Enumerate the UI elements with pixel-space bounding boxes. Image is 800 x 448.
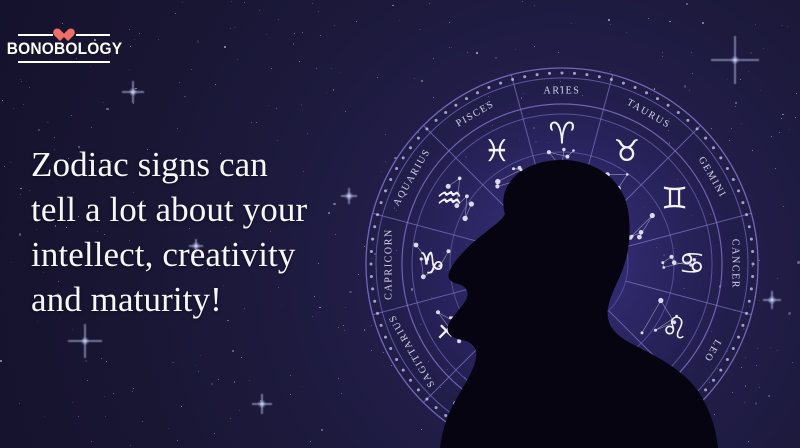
page-title-line: and maturity!: [31, 277, 361, 322]
logo-rule-right: [76, 34, 111, 36]
brand-logo[interactable]: BONOBOLOGY: [18, 27, 110, 65]
page-title-line: intellect, creativity: [31, 232, 361, 277]
poster-canvas: ARIESTAURUSGEMINICANCERLEOVIRGOLIBRASCOR…: [0, 0, 800, 448]
page-title-line: Zodiac signs can: [31, 142, 361, 187]
logo-rule-left: [18, 34, 53, 36]
page-title: Zodiac signs cantell a lot about yourint…: [31, 142, 361, 322]
page-title-line: tell a lot about your: [31, 187, 361, 232]
logo-wordmark: BONOBOLOGY: [6, 40, 122, 59]
logo-top-row: [18, 29, 110, 40]
logo-rule-bottom: [18, 61, 110, 63]
